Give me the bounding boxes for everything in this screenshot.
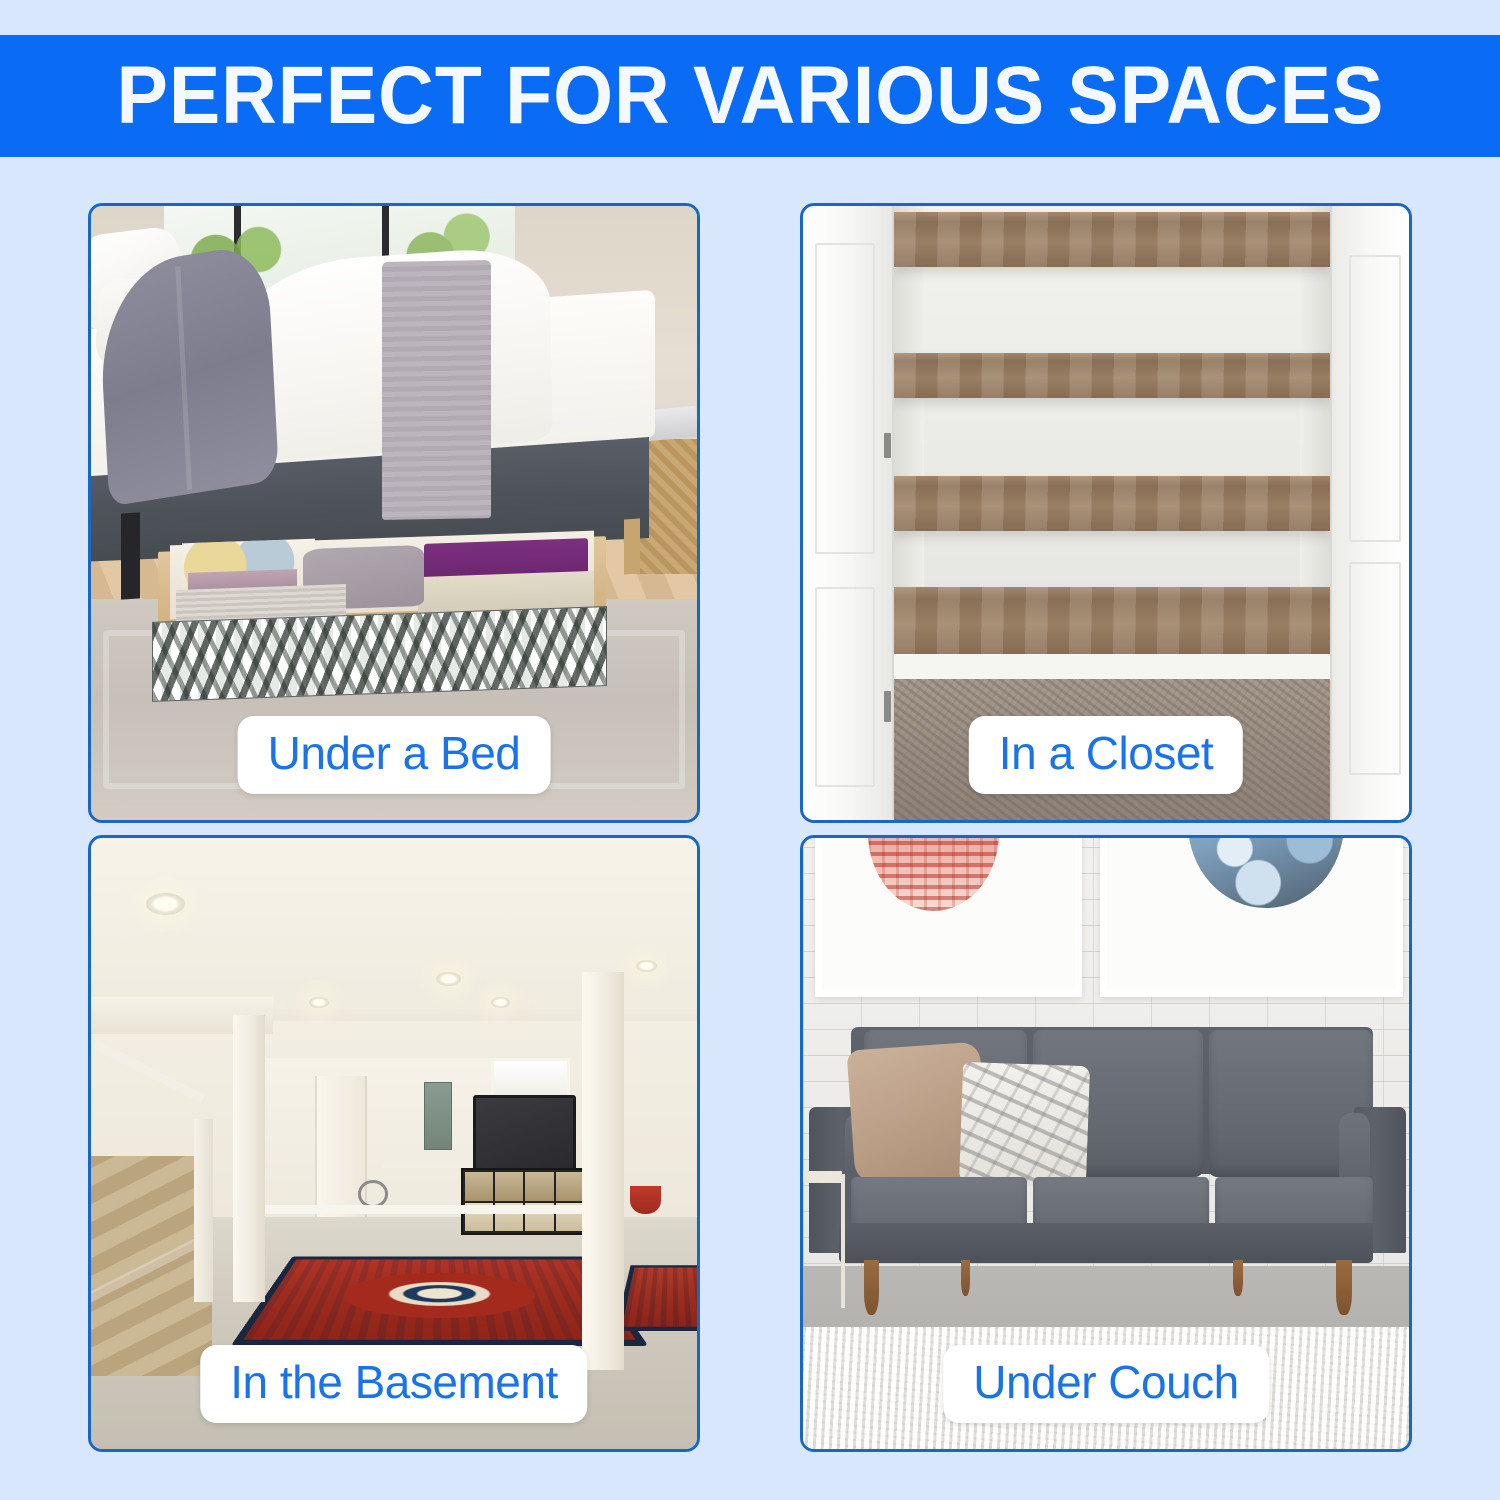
closet-door-hinge-upper: [884, 433, 891, 458]
card-label-in-a-closet: In a Closet: [969, 716, 1243, 794]
basement-window: [491, 1058, 570, 1098]
shelf-cube: [495, 1172, 523, 1201]
sofa-bolster-right: [1339, 1113, 1369, 1186]
succulent-circle-print: [1188, 838, 1344, 908]
card-label-under-a-bed: Under a Bed: [238, 716, 551, 794]
throw-pillow-patterned: [958, 1062, 1089, 1189]
card-under-a-bed[interactable]: Under a Bed: [88, 203, 700, 823]
framed-art-right: [1100, 838, 1403, 997]
recessed-light-4: [491, 997, 510, 1008]
card-label-text: Under a Bed: [268, 730, 521, 776]
sofa-leg-back-right: [1233, 1260, 1243, 1297]
shelf-cube: [525, 1172, 553, 1201]
palace-circle-print: [868, 838, 999, 911]
support-column-right: [582, 972, 624, 1369]
card-in-the-basement[interactable]: In the Basement: [88, 835, 700, 1452]
closet-shelf-1: [894, 212, 1330, 267]
staircase-newel-post: [194, 1119, 213, 1302]
closet-shelf-2: [894, 353, 1330, 397]
bicycle-wheel: [358, 1180, 388, 1207]
sofa-leg-front-left: [864, 1260, 880, 1315]
shelf-cube: [556, 1172, 584, 1201]
card-label-text: In a Closet: [999, 730, 1213, 776]
closet-baseboard: [894, 654, 1330, 682]
shelf-cube: [465, 1172, 493, 1201]
bed-leg-left: [121, 512, 140, 599]
card-in-a-closet[interactable]: In a Closet: [800, 203, 1412, 823]
quilted-bed-runner: [382, 260, 491, 520]
bed-leg-right: [624, 519, 640, 575]
closet-door-left: [803, 206, 894, 820]
storage-bag-front-panel: [152, 606, 607, 702]
header-banner: PERFECT FOR VARIOUS SPACES: [0, 35, 1500, 157]
closet-shelf-3: [894, 476, 1330, 531]
card-under-couch[interactable]: Under Couch: [800, 835, 1412, 1452]
persian-runner-rug: [615, 1266, 697, 1332]
spaces-card-grid: Under a Bed In a Closet: [88, 203, 1412, 1452]
sofa-leg-back-left: [961, 1260, 971, 1297]
card-label-text: In the Basement: [230, 1359, 557, 1405]
closet-shelf-4: [894, 587, 1330, 655]
side-table-frame: [803, 1174, 845, 1308]
recessed-light-1: [146, 893, 185, 915]
closet-door-hinge-lower: [884, 691, 891, 722]
sofa-leg-front-right: [1336, 1260, 1352, 1315]
recessed-light-3: [309, 997, 328, 1008]
recessed-light-5: [636, 960, 657, 972]
side-table-top: [803, 1171, 842, 1183]
support-column-left: [233, 1015, 265, 1302]
red-bowl: [630, 1186, 660, 1213]
page-title: PERFECT FOR VARIOUS SPACES: [116, 55, 1384, 137]
cube-shelf-unit: [461, 1168, 588, 1235]
card-label-in-the-basement: In the Basement: [200, 1345, 587, 1423]
recessed-light-2: [436, 972, 460, 985]
card-label-text: Under Couch: [973, 1359, 1239, 1405]
sofa-base-rail: [839, 1223, 1372, 1263]
card-label-under-couch: Under Couch: [943, 1345, 1269, 1423]
television: [473, 1095, 576, 1174]
electrical-panel: [424, 1082, 452, 1149]
cube-shelf-grid: [465, 1172, 584, 1231]
closet-door-right: [1330, 206, 1409, 820]
framed-art-left: [815, 838, 1082, 997]
basement-baseboard: [249, 1205, 588, 1215]
